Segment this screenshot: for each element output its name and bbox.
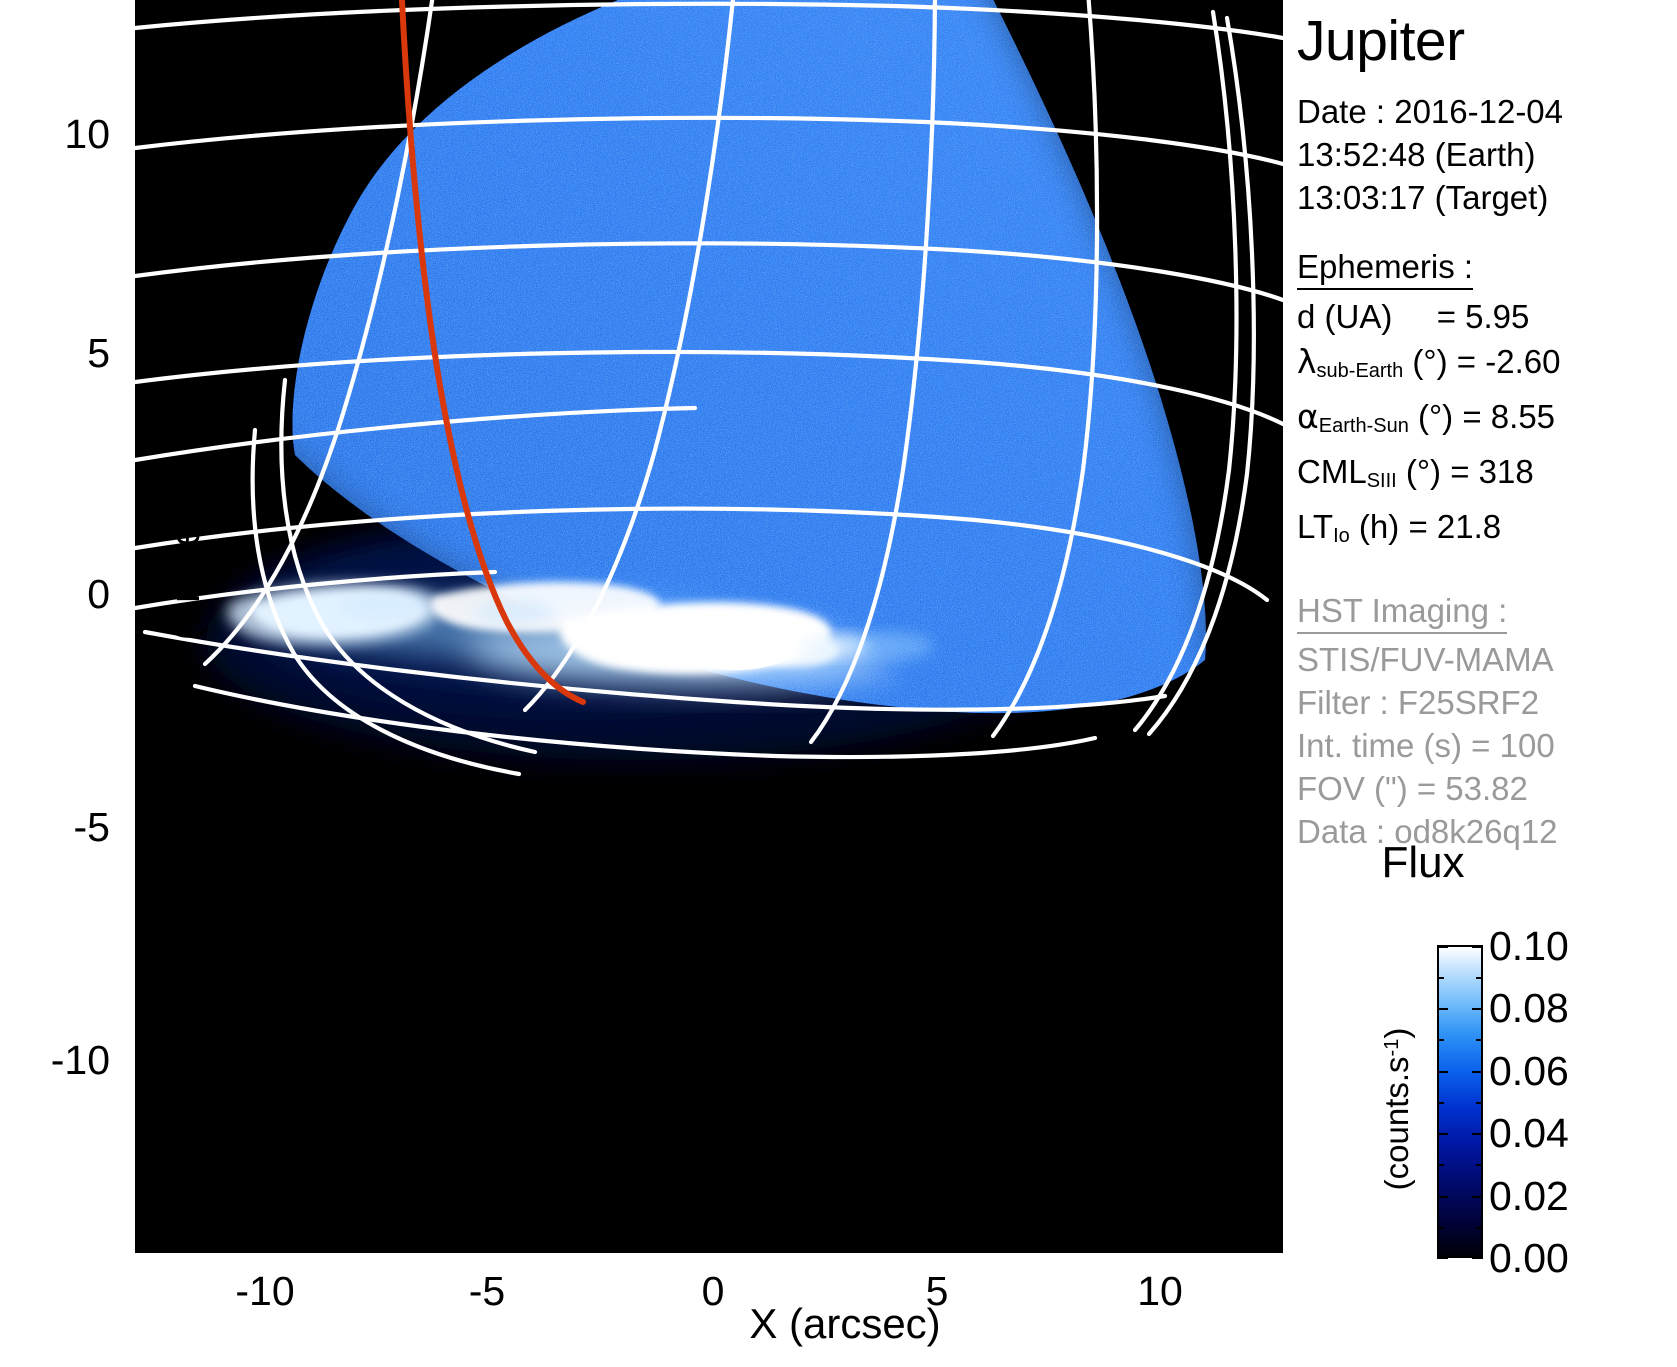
colorbar-minor-tick xyxy=(1437,977,1444,979)
info-panel: Jupiter Date : 2016-12-04 13:52:48 (Eart… xyxy=(1297,0,1677,820)
ytick-label-0: 0 xyxy=(0,571,110,618)
ephemeris-label-alpha: α xyxy=(1297,397,1319,436)
hst-imaging-block: HST Imaging : STIS/FUV-MAMA Filter : F25… xyxy=(1297,559,1677,853)
ephemeris-row-sub-earth-latitude: λsub-Earth (°) = -2.60 xyxy=(1297,339,1677,394)
observation-date: Date : 2016-12-04 xyxy=(1297,90,1677,133)
colorbar-tick-0.06-right xyxy=(1472,1071,1483,1073)
colorbar-tick-0.10 xyxy=(1437,946,1448,948)
colorbar-unit-close-paren: ) xyxy=(1378,1028,1415,1039)
hst-integration-time: Int. time (s) = 100 xyxy=(1297,724,1677,767)
ytick-label-10: 10 xyxy=(0,111,110,158)
xtick-label--10: -10 xyxy=(190,1268,340,1315)
colorbar-unit-exponent: -1 xyxy=(1381,1039,1403,1057)
ephemeris-value-alpha: = 8.55 xyxy=(1462,398,1555,435)
ephemeris-unit-degrees-alpha: (°) xyxy=(1418,398,1453,435)
xtick-label-10: 10 xyxy=(1085,1268,1235,1315)
colorbar-label-0.06: 0.06 xyxy=(1489,1051,1569,1092)
observation-time-earth: 13:52:48 (Earth) xyxy=(1297,133,1677,176)
ephemeris-row-local-time-io: LTIo (h) = 21.8 xyxy=(1297,504,1677,559)
colorbar-title: Flux xyxy=(1333,840,1513,886)
ephemeris-unit-degrees-cml: (°) xyxy=(1406,453,1441,490)
observation-time-target: 13:03:17 (Target) xyxy=(1297,176,1677,219)
colorbar-tick-0.02 xyxy=(1437,1196,1448,1198)
image-panel-wrapper: -10 -5 0 5 10 10 5 0 -5 -10 Y (arcsec) X… xyxy=(135,0,1283,1253)
colorbar-tick-0.00 xyxy=(1437,1257,1448,1259)
colorbar-minor-tick xyxy=(1476,1227,1483,1229)
ephemeris-subscript-sub-earth: sub-Earth xyxy=(1317,360,1404,382)
colorbar-tick-0.02-right xyxy=(1472,1196,1483,1198)
x-axis-label: X (arcsec) xyxy=(695,1300,995,1348)
ephemeris-value-distance: = 5.95 xyxy=(1437,298,1530,335)
colorbar-label-0.02: 0.02 xyxy=(1489,1176,1569,1217)
ephemeris-label-lambda: λ xyxy=(1297,342,1317,381)
xtick-label--5: -5 xyxy=(412,1268,562,1315)
colorbar-tick-0.10-right xyxy=(1472,946,1483,948)
colorbar-label-0.00: 0.00 xyxy=(1489,1238,1569,1279)
ephemeris-unit-degrees-lambda: (°) xyxy=(1412,343,1447,380)
colorbar-tick-0.00-right xyxy=(1472,1257,1483,1259)
ytick-label-5: 5 xyxy=(0,330,110,377)
colorbar-minor-tick xyxy=(1476,977,1483,979)
ytick-label--10: -10 xyxy=(0,1037,110,1084)
ephemeris-subscript-io: Io xyxy=(1333,525,1350,547)
colorbar-tick-0.08-right xyxy=(1472,1008,1483,1010)
ephemeris-value-cml: = 318 xyxy=(1450,453,1534,490)
jupiter-fuv-image[interactable] xyxy=(135,0,1283,1253)
ytick-label--5: -5 xyxy=(0,804,110,851)
sky-canvas xyxy=(135,0,1283,1253)
colorbar-minor-tick xyxy=(1437,1039,1444,1041)
colorbar-tick-0.06 xyxy=(1437,1071,1448,1073)
hst-instrument: STIS/FUV-MAMA xyxy=(1297,638,1677,681)
colorbar-block: Flux 0.10 0.08 0.06 0.04 0.02 0.00 xyxy=(1297,840,1677,1300)
ephemeris-row-cml: CMLSIII (°) = 318 xyxy=(1297,449,1677,504)
y-axis-label: Y (arcsec) xyxy=(161,434,209,734)
colorbar-unit-text: (counts.s xyxy=(1378,1056,1415,1190)
ephemeris-label-cml: CML xyxy=(1297,453,1367,490)
colorbar-label-0.04: 0.04 xyxy=(1489,1113,1569,1154)
hst-imaging-heading: HST Imaging : xyxy=(1297,591,1507,634)
page-title: Jupiter xyxy=(1297,10,1677,72)
colorbar-label-0.08: 0.08 xyxy=(1489,988,1569,1029)
colorbar-label-0.10: 0.10 xyxy=(1489,926,1569,967)
ephemeris-unit-hours-lt: (h) xyxy=(1359,508,1399,545)
ephemeris-row-phase-angle: αEarth-Sun (°) = 8.55 xyxy=(1297,394,1677,449)
ephemeris-value-lambda: = -2.60 xyxy=(1457,343,1561,380)
colorbar-minor-tick xyxy=(1437,1227,1444,1229)
figure-root: -10 -5 0 5 10 10 5 0 -5 -10 Y (arcsec) X… xyxy=(0,0,1677,1367)
ephemeris-subscript-earth-sun: Earth-Sun xyxy=(1319,415,1409,437)
colorbar-minor-tick xyxy=(1437,1102,1444,1104)
ephemeris-row-distance: d (UA) = 5.95 xyxy=(1297,294,1677,339)
ephemeris-label-distance: d (UA) xyxy=(1297,298,1392,335)
ephemeris-subscript-siii: SIII xyxy=(1367,470,1397,492)
colorbar-minor-tick xyxy=(1476,1164,1483,1166)
colorbar-tick-0.04-right xyxy=(1472,1133,1483,1135)
hst-field-of-view: FOV (") = 53.82 xyxy=(1297,767,1677,810)
colorbar-unit-label: (counts.s-1) xyxy=(1378,989,1416,1229)
colorbar-minor-tick xyxy=(1476,1102,1483,1104)
ephemeris-heading: Ephemeris : xyxy=(1297,247,1473,290)
colorbar-tick-0.08 xyxy=(1437,1008,1448,1010)
hst-filter: Filter : F25SRF2 xyxy=(1297,681,1677,724)
colorbar-minor-tick xyxy=(1437,1164,1444,1166)
colorbar-tick-0.04 xyxy=(1437,1133,1448,1135)
ephemeris-value-lt: = 21.8 xyxy=(1408,508,1501,545)
colorbar-minor-tick xyxy=(1476,1039,1483,1041)
ephemeris-label-lt: LT xyxy=(1297,508,1333,545)
